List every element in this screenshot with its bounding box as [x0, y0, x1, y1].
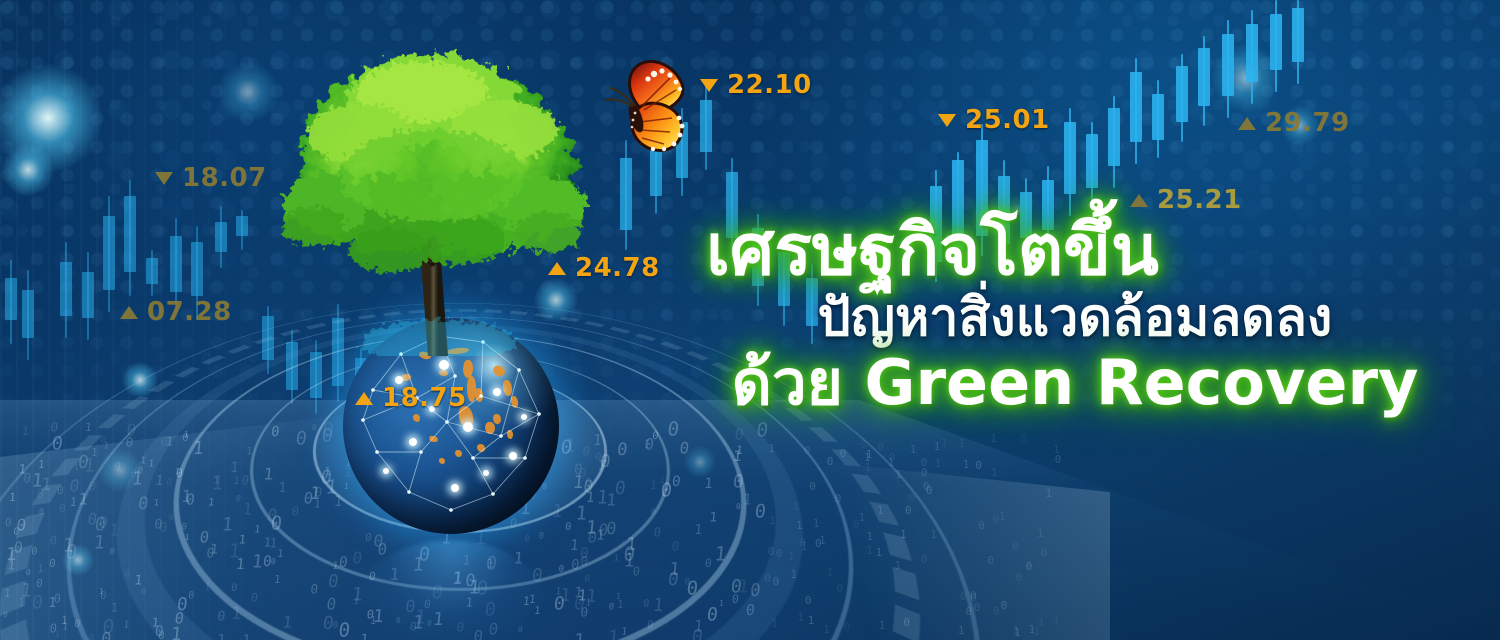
- binary-digit: 1: [703, 475, 713, 492]
- binary-digit: 0: [572, 593, 585, 614]
- binary-digit: 0: [764, 572, 771, 585]
- candle-wick: [1069, 108, 1071, 216]
- binary-digit: 0: [12, 539, 23, 557]
- binary-digit: 1: [859, 511, 866, 524]
- binary-digit: 1: [1014, 626, 1021, 639]
- candle-body: [215, 222, 227, 252]
- binary-digit: 0: [650, 507, 656, 516]
- binary-digit: 0: [181, 521, 188, 532]
- binary-digit: 1: [140, 455, 147, 466]
- candlestick: [215, 206, 227, 268]
- binary-digit: 0: [749, 580, 762, 601]
- candlestick: [236, 210, 248, 250]
- binary-digit: 0: [623, 543, 637, 566]
- binary-digit: 0: [49, 534, 58, 548]
- binary-digit: 1: [736, 576, 749, 597]
- candle-body: [620, 158, 632, 230]
- binary-digit: 0: [582, 477, 594, 497]
- binary-digit: 1: [170, 624, 183, 640]
- binary-digit: 0: [670, 539, 679, 554]
- binary-digit: 1: [808, 614, 815, 627]
- binary-digit: 1: [154, 472, 164, 488]
- candle-body: [124, 196, 136, 272]
- binary-digit: 0: [965, 605, 972, 618]
- binary-digit: 0: [1001, 599, 1008, 612]
- binary-digit: 1: [791, 568, 798, 581]
- candlestick: [1064, 108, 1076, 216]
- binary-digit: 0: [678, 439, 690, 458]
- bokeh-light: [98, 448, 142, 492]
- binary-digit: 1: [596, 528, 606, 544]
- bokeh-light: [122, 362, 158, 398]
- binary-digit: 1: [242, 500, 254, 519]
- candle-wick: [1227, 20, 1229, 118]
- binary-digit: 1: [103, 441, 109, 451]
- candlestick: [60, 242, 72, 338]
- binary-digit: 1: [605, 491, 617, 510]
- binary-digit: 1: [313, 499, 320, 511]
- binary-digit: 0: [266, 505, 278, 525]
- binary-digit: 1: [332, 560, 340, 572]
- binary-digit: 0: [169, 512, 175, 521]
- binary-digit: 1: [1033, 625, 1040, 638]
- globe-network-node: [395, 376, 403, 384]
- binary-digit: 1: [40, 474, 52, 494]
- binary-digit: 0: [903, 616, 910, 629]
- binary-digit: 0: [35, 486, 44, 501]
- binary-digit: 1: [232, 474, 240, 486]
- green-tree: [272, 26, 602, 356]
- candle-wick: [87, 252, 89, 340]
- binary-digit: 0: [815, 537, 822, 550]
- ticker-18-07: 18.07: [155, 163, 267, 193]
- binary-digit: 0: [685, 578, 699, 600]
- triangle-up-icon: [1130, 194, 1148, 207]
- binary-digit: 1: [643, 438, 652, 452]
- triangle-up-icon: [120, 306, 138, 319]
- binary-digit: 0: [231, 581, 239, 593]
- binary-digit: 1: [900, 528, 907, 541]
- binary-digit: 1: [5, 544, 18, 565]
- ticker-25-01: 25.01: [938, 105, 1050, 135]
- triangle-down-icon: [938, 114, 956, 127]
- binary-digit: 0: [804, 444, 811, 457]
- binary-digit: 0: [166, 477, 173, 488]
- binary-digit: 0: [30, 592, 43, 614]
- binary-digit: 1: [559, 585, 572, 606]
- binary-digit: 0: [921, 456, 928, 469]
- binary-digit: 1: [229, 460, 239, 477]
- binary-digit: 0: [250, 591, 259, 605]
- candlestick: [1292, 0, 1304, 84]
- binary-digit: 0: [1026, 560, 1033, 573]
- binary-digit: 1: [771, 617, 778, 630]
- binary-digit: 1: [823, 623, 830, 636]
- candlestick: [1222, 20, 1234, 118]
- binary-digit: 1: [613, 552, 619, 562]
- binary-digit: 0: [175, 467, 184, 481]
- binary-digit: 1: [569, 537, 580, 554]
- binary-digit: 0: [652, 525, 661, 540]
- binary-digit: 0: [373, 531, 385, 550]
- candlestick: [1152, 80, 1164, 158]
- binary-digit: 1: [792, 500, 799, 513]
- globe-network-node: [463, 422, 473, 432]
- binary-digit: 0: [88, 632, 95, 640]
- binary-digit: 0: [113, 460, 121, 473]
- binary-digit: 1: [203, 582, 210, 594]
- binary-digit: 0: [235, 494, 241, 504]
- candle-body: [146, 258, 158, 284]
- binary-digit: 1: [208, 496, 215, 508]
- binary-digit: 0: [805, 594, 812, 607]
- binary-digit: 1: [263, 535, 272, 549]
- binary-digit: 1: [990, 432, 997, 445]
- binary-digit: 0: [753, 500, 767, 522]
- binary-digit: 1: [732, 448, 743, 465]
- binary-digit: 0: [185, 491, 196, 509]
- binary-digit: 0: [199, 529, 210, 547]
- binary-digit: 1: [866, 544, 873, 557]
- binary-digit: 0: [840, 447, 847, 460]
- binary-digit: 1: [584, 517, 597, 538]
- binary-digit: 1: [572, 472, 585, 493]
- binary-digit: 1: [585, 490, 595, 506]
- binary-digit: 0: [320, 425, 333, 447]
- binary-digit: 1: [21, 425, 29, 439]
- binary-digit: 1: [895, 468, 902, 481]
- binary-digit: 1: [238, 532, 247, 546]
- binary-digit: 0: [311, 423, 317, 433]
- binary-digit: 0: [652, 430, 660, 442]
- binary-digit: 0: [262, 553, 273, 570]
- binary-digit: 0: [102, 616, 116, 639]
- binary-digit: 1: [153, 497, 159, 508]
- binary-digit: 0: [606, 518, 618, 538]
- binary-digit: 1: [20, 579, 34, 601]
- binary-digit: 1: [735, 444, 743, 458]
- candle-body: [60, 262, 72, 316]
- binary-digit: 0: [853, 518, 860, 531]
- binary-digit: 0: [141, 586, 147, 596]
- binary-digit: 1: [649, 479, 657, 492]
- binary-digit: 0: [313, 485, 322, 500]
- binary-digit: 0: [337, 620, 351, 640]
- headline-line-1: เศรษฐกิจโตขึ้น: [690, 215, 1460, 286]
- binary-digit: 0: [579, 554, 588, 569]
- candle-wick: [129, 180, 131, 296]
- binary-digit: 0: [56, 484, 64, 497]
- binary-digit: 0: [923, 480, 930, 493]
- binary-digit: 0: [704, 556, 712, 570]
- binary-digit: 0: [309, 582, 318, 597]
- binary-digit: 0: [23, 471, 33, 487]
- binary-digit: 0: [809, 480, 816, 493]
- candle-wick: [1135, 58, 1137, 164]
- binary-digit: 1: [54, 629, 60, 639]
- binary-digit: 1: [826, 566, 833, 579]
- triangle-down-icon: [700, 79, 718, 92]
- ticker-value: 25.21: [1157, 185, 1242, 215]
- globe-network-node: [493, 388, 501, 396]
- binary-digit: 0: [584, 572, 591, 584]
- binary-digit: 0: [731, 593, 740, 607]
- binary-digit: 0: [666, 418, 680, 441]
- binary-digit: 0: [599, 452, 612, 472]
- globe-network-node: [483, 470, 489, 476]
- binary-digit: 0: [25, 568, 31, 578]
- binary-digit: 1: [77, 491, 88, 510]
- binary-digit: 1: [718, 599, 724, 609]
- binary-digit: 0: [730, 576, 743, 597]
- binary-digit: 0: [632, 565, 641, 579]
- binary-digit: 1: [282, 613, 293, 632]
- binary-digit: 0: [88, 480, 97, 494]
- binary-digit: 0: [13, 526, 20, 537]
- binary-digit: 0: [351, 549, 363, 568]
- globe-network-node: [409, 438, 417, 446]
- ticker-07-28: 07.28: [120, 297, 232, 327]
- binary-digit: 1: [623, 549, 636, 571]
- binary-digit: 0: [322, 419, 336, 442]
- triangle-up-icon: [1238, 117, 1256, 130]
- binary-digit: 0: [159, 434, 168, 449]
- globe-network-node: [521, 414, 527, 420]
- binary-digit: 1: [1045, 487, 1052, 500]
- binary-digit: 1: [8, 491, 16, 504]
- binary-digit: 0: [130, 468, 137, 480]
- binary-digit: 1: [692, 617, 704, 636]
- binary-digit: 0: [154, 517, 164, 533]
- binary-digit: 1: [864, 451, 871, 464]
- binary-digit: 0: [975, 459, 982, 472]
- binary-digit: 0: [241, 473, 250, 488]
- binary-digit: 0: [4, 516, 12, 529]
- binary-digit: 0: [970, 591, 977, 604]
- binary-digit: 1: [69, 496, 77, 510]
- binary-digit: 1: [235, 556, 246, 574]
- binary-digit: 1: [18, 462, 27, 477]
- binary-digit: 1: [1037, 527, 1044, 540]
- binary-digit: 1: [73, 463, 79, 472]
- binary-digit: 1: [31, 469, 44, 491]
- binary-digit: 0: [49, 621, 58, 635]
- binary-digit: 1: [228, 540, 242, 563]
- binary-digit: 1: [1012, 624, 1019, 637]
- globe-network-node: [429, 406, 435, 412]
- candle-body: [1064, 122, 1076, 194]
- binary-digit: 0: [320, 466, 334, 488]
- binary-digit: 0: [181, 431, 189, 443]
- candlestick: [103, 196, 115, 312]
- binary-digit: 0: [835, 492, 842, 505]
- ticker-29-79: 29.79: [1238, 108, 1350, 138]
- candle-body: [170, 236, 182, 292]
- binary-digit: 1: [1053, 443, 1060, 456]
- binary-digit: 1: [616, 591, 622, 601]
- headline-line-3: ด้วย Green Recovery: [690, 351, 1460, 414]
- binary-digit: 1: [769, 514, 776, 527]
- binary-digit: 0: [843, 621, 850, 634]
- binary-digit: 0: [158, 630, 166, 640]
- binary-digit: 1: [910, 443, 917, 456]
- candlestick: [146, 250, 158, 296]
- binary-digit: 1: [564, 434, 577, 455]
- binary-digit: 0: [574, 461, 584, 478]
- headline-block: เศรษฐกิจโตขึ้น ปัญหาสิ่งแวดล้อมลดลง ด้วย…: [690, 215, 1460, 415]
- binary-digit: 0: [1055, 453, 1062, 466]
- binary-digit: 1: [866, 448, 873, 461]
- binary-digit: 1: [209, 541, 215, 550]
- binary-digit: 0: [124, 568, 131, 580]
- binary-digit: 1: [934, 440, 941, 453]
- binary-digit: 1: [768, 442, 775, 455]
- binary-digit: 0: [553, 593, 566, 614]
- binary-digit: 1: [1038, 616, 1045, 629]
- binary-digit: 0: [74, 618, 81, 630]
- binary-digit: 0: [3, 610, 9, 619]
- binary-digit: 1: [930, 528, 937, 541]
- triangle-down-icon: [155, 172, 173, 185]
- candle-wick: [1181, 54, 1183, 142]
- binary-digit: 0: [101, 629, 113, 640]
- binary-digit: 0: [64, 541, 78, 564]
- binary-digit: 1: [585, 597, 592, 608]
- candle-wick: [1251, 10, 1253, 104]
- binary-digit: 0: [644, 436, 655, 454]
- binary-digit: 0: [799, 536, 806, 549]
- binary-digit: 1: [1053, 613, 1060, 626]
- candlestick: [124, 180, 136, 296]
- binary-digit: 0: [595, 451, 603, 463]
- binary-digit: 1: [99, 587, 105, 596]
- candle-body: [103, 216, 115, 290]
- binary-digit: 1: [109, 521, 120, 540]
- binary-digit: 0: [905, 504, 912, 517]
- binary-digit: 0: [960, 590, 967, 603]
- binary-digit: 1: [37, 458, 45, 471]
- bokeh-light: [684, 446, 716, 478]
- binary-digit: 1: [796, 519, 803, 532]
- binary-digit: 0: [684, 576, 691, 587]
- binary-digit: 0: [50, 420, 59, 435]
- binary-digit: 0: [706, 603, 719, 624]
- binary-digit: 1: [555, 585, 562, 597]
- binary-digit: 1: [592, 431, 603, 449]
- binary-digit: 0: [188, 589, 195, 601]
- binary-digit: 1: [84, 421, 92, 434]
- candle-wick: [1275, 0, 1277, 92]
- binary-digit: 0: [31, 545, 38, 557]
- binary-digit: 1: [595, 486, 609, 508]
- bokeh-light: [1212, 44, 1280, 112]
- binary-digit: 0: [326, 595, 338, 614]
- binary-digit: 1: [813, 517, 820, 530]
- globe-network-node: [509, 452, 517, 460]
- binary-digit: 0: [270, 557, 276, 566]
- globe-network-node: [383, 468, 389, 474]
- binary-digit: 0: [987, 554, 994, 567]
- binary-digit: 1: [131, 468, 144, 489]
- binary-digit: 1: [276, 548, 284, 561]
- binary-digit: 1: [801, 540, 808, 553]
- binary-digit: 0: [158, 519, 168, 535]
- binary-digit: 0: [125, 435, 134, 450]
- binary-digit: 0: [768, 545, 775, 558]
- binary-digit: 0: [49, 557, 57, 570]
- binary-digit: 0: [99, 589, 107, 602]
- bokeh-light: [0, 64, 102, 172]
- binary-digit: 0: [660, 479, 674, 501]
- binary-digit: 0: [98, 513, 109, 531]
- binary-digit: 1: [941, 437, 948, 450]
- binary-digit: 1: [17, 596, 25, 609]
- binary-digit: 0: [585, 477, 592, 489]
- binary-digit: 0: [667, 569, 680, 590]
- binary-digit: 0: [295, 427, 308, 449]
- binary-digit: 1: [693, 522, 703, 538]
- binary-digit: 1: [742, 491, 753, 509]
- candlestick: [22, 270, 34, 360]
- binary-digit: 1: [866, 530, 873, 543]
- candle-body: [700, 100, 712, 152]
- candlestick: [1108, 96, 1120, 188]
- binary-digit: 0: [524, 534, 530, 544]
- binary-digit: 1: [309, 483, 322, 503]
- candle-body: [1246, 24, 1258, 82]
- binary-digit: 0: [755, 418, 769, 441]
- bokeh-light: [2, 144, 54, 196]
- binary-digit: 1: [879, 619, 886, 632]
- binary-digit: 0: [1012, 540, 1019, 553]
- binary-digit: 1: [209, 542, 219, 557]
- binary-digit: 0: [646, 618, 654, 631]
- binary-digit: 0: [921, 466, 928, 479]
- candle-body: [1086, 134, 1098, 188]
- binary-digit: 0: [216, 609, 226, 625]
- binary-digit: 0: [671, 473, 681, 490]
- binary-digit: 0: [205, 546, 214, 561]
- binary-digit: 1: [324, 477, 338, 500]
- binary-digit: 1: [47, 595, 57, 611]
- candle-wick: [1113, 96, 1115, 188]
- binary-digit: 0: [614, 478, 627, 499]
- binary-digit: 1: [277, 480, 287, 496]
- candlestick: [1246, 10, 1258, 104]
- binary-digit: 1: [877, 504, 884, 517]
- binary-digit: 1: [888, 456, 895, 469]
- binary-digit: 1: [212, 474, 219, 486]
- binary-digit: 1: [184, 430, 190, 439]
- candle-wick: [65, 242, 67, 338]
- binary-digit: 0: [579, 545, 589, 562]
- candle-wick: [1091, 122, 1093, 210]
- candle-wick: [175, 218, 177, 312]
- candle-wick: [108, 196, 110, 312]
- binary-digit: 1: [788, 550, 795, 563]
- binary-digit: 1: [269, 536, 278, 551]
- candlestick: [170, 218, 182, 312]
- binary-digit: 0: [38, 506, 44, 516]
- binary-digit: 1: [165, 434, 174, 448]
- candlestick: [1270, 0, 1282, 92]
- binary-digit: 0: [1016, 571, 1023, 584]
- binary-digit: 1: [251, 551, 264, 572]
- candle-body: [22, 290, 34, 338]
- binary-digit: 0: [587, 529, 598, 547]
- binary-digit: 1: [210, 472, 224, 495]
- binary-digit: 0: [154, 623, 165, 640]
